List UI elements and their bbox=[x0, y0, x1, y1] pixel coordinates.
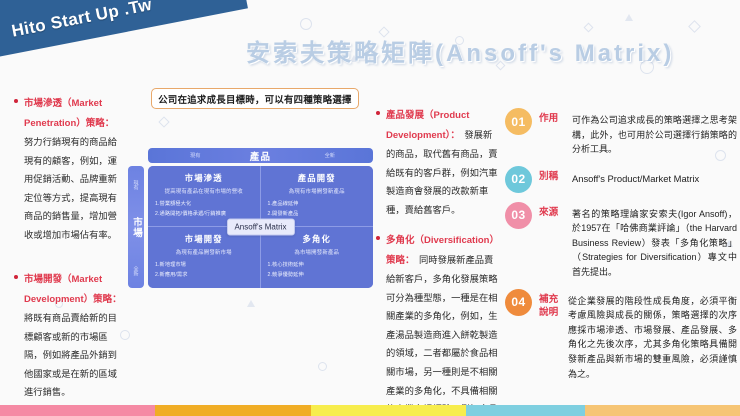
numbered-item-02-value: Ansoff's Product/Market Matrix bbox=[572, 166, 737, 186]
slide-canvas: Hito Start Up .Tw 安索夫策略矩陣(Ansoff's Matri… bbox=[0, 0, 740, 416]
middle-bullet-0-heading: 產品發展（Product Development）： bbox=[386, 110, 469, 141]
deco-diamond bbox=[158, 116, 169, 127]
deco-circle bbox=[318, 362, 327, 371]
quadrant-title: 產品開發 bbox=[268, 172, 367, 184]
quadrant-subtitle: 提高現有產品在現有市場的營收 bbox=[155, 187, 253, 195]
quadrant-diversification[interactable]: 多角化 為市場開發新產品 1.核心技術延伸 2.競爭優勢延伸 bbox=[261, 227, 374, 288]
middle-bullet-0: 產品發展（Product Development）： 發展新的商品，取代舊有商品… bbox=[376, 105, 498, 218]
numbered-item-04-key: 補充說明 bbox=[539, 289, 565, 320]
numbered-item-01: 01 作用 可作為公司追求成長的策略選擇之思考架構，此外，也可用於公司選擇行銷策… bbox=[505, 108, 737, 157]
left-bullet-1-heading: 市場開發（Market Development）策略： bbox=[24, 274, 122, 305]
quadrant-item: 2.新應用/需求 bbox=[155, 270, 253, 280]
deco-triangle bbox=[625, 14, 633, 21]
deco-triangle bbox=[247, 300, 255, 307]
number-badge-02: 02 bbox=[505, 166, 532, 193]
market-axis-title: 市場 bbox=[129, 217, 143, 238]
bullet-dot-icon bbox=[14, 275, 18, 279]
product-axis-header: 現有 產品 全新 bbox=[148, 148, 373, 163]
middle-bullet-0-body: 發展新的商品，取代舊有商品，賣給既有的客戶群，例如汽車製造商會發展的改款新車種，… bbox=[386, 130, 498, 215]
left-bullet-0-body: 努力行銷現有的商品給現有的顧客，例如，運用促銷活動、品牌重新定位等方式，提高現有… bbox=[24, 137, 117, 240]
left-bullet-0-heading: 市場滲透（Market Penetration）策略： bbox=[24, 98, 114, 129]
deco-diamond bbox=[584, 23, 594, 33]
left-column: 市場滲透（Market Penetration）策略： 努力行銷現有的商品給現有… bbox=[14, 93, 122, 244]
strip-segment-5 bbox=[585, 405, 740, 416]
numbered-item-01-value: 可作為公司追求成長的策略選擇之思考架構，此外，也可用於公司選擇行銷策略的分析工具… bbox=[572, 108, 737, 157]
numbered-item-02: 02 別稱 Ansoff's Product/Market Matrix bbox=[505, 166, 737, 193]
quadrant-market-development[interactable]: 市場開發 為現有產品開發新市場 1.新地理市場 2.新應用/需求 bbox=[148, 227, 261, 288]
quadrant-item: 1.產品線延伸 bbox=[268, 199, 367, 209]
quadrant-item: 2.競爭優勢延伸 bbox=[268, 270, 367, 280]
number-badge-01: 01 bbox=[505, 108, 532, 135]
numbered-item-03-key: 來源 bbox=[539, 202, 569, 220]
strip-segment-2 bbox=[155, 405, 310, 416]
left-bullet-1-body: 將既有商品賣給新的目標顧客或新的市場區隔，例如將產品外銷到他國家或是在新的區域進… bbox=[24, 313, 117, 397]
product-axis-right-label: 全新 bbox=[325, 152, 335, 159]
middle-column-2: 多角化（Diversification）策略： 同時發展新產品賣給新客戶，多角化… bbox=[376, 230, 498, 416]
bottom-color-strip bbox=[0, 405, 740, 416]
strip-segment-3 bbox=[311, 405, 466, 416]
middle-bullet-1: 多角化（Diversification）策略： 同時發展新產品賣給新客戶，多角化… bbox=[376, 230, 498, 416]
matrix-grid: 市場滲透 提高現有產品在現有市場的營收 1.營業額極大化 2.通路開拓/價格承遞… bbox=[148, 166, 373, 288]
market-axis-sidebar: 現有 市場 全新 bbox=[128, 166, 144, 288]
deco-circle bbox=[300, 18, 312, 30]
strip-segment-4 bbox=[466, 405, 584, 416]
strip-segment-1 bbox=[0, 405, 155, 416]
quadrant-subtitle: 為現有市場開發新產品 bbox=[268, 187, 367, 195]
number-badge-04: 04 bbox=[505, 289, 532, 316]
product-axis-title: 產品 bbox=[148, 149, 373, 163]
right-column: 01 作用 可作為公司追求成長的策略選擇之思考架構，此外，也可用於公司選擇行銷策… bbox=[505, 108, 737, 390]
quadrant-title: 市場滲透 bbox=[155, 172, 253, 184]
bullet-dot-icon bbox=[376, 111, 380, 115]
bullet-dot-icon bbox=[376, 236, 380, 240]
callout-banner: 公司在追求成長目標時，可以有四種策略選擇 bbox=[151, 88, 359, 109]
ansoff-matrix: 現有 產品 全新 現有 市場 全新 市場滲透 提高現有產品在現有市場的營收 1.… bbox=[128, 148, 373, 290]
matrix-center-badge: Ansoff's Matrix bbox=[226, 219, 294, 236]
numbered-item-03-value: 著名的策略理論家安索夫(Igor Ansoff)，於1957在「哈佛商業評論」（… bbox=[572, 202, 737, 280]
quadrant-subtitle: 為現有產品開發新市場 bbox=[155, 248, 253, 256]
market-axis-bottom-label: 全新 bbox=[133, 266, 140, 276]
middle-bullet-1-body: 同時發展新產品賣給新客戶，多角化發展策略可分為種型態，一種是在相關產業的多角化，… bbox=[386, 255, 498, 416]
market-axis-top-label: 現有 bbox=[133, 180, 140, 190]
numbered-item-01-key: 作用 bbox=[539, 108, 569, 126]
quadrant-subtitle: 為市場開發新產品 bbox=[268, 248, 367, 256]
number-badge-03: 03 bbox=[505, 202, 532, 229]
middle-column: 產品發展（Product Development）： 發展新的商品，取代舊有商品… bbox=[376, 105, 498, 218]
numbered-item-02-key: 別稱 bbox=[539, 166, 569, 184]
numbered-item-04-value: 從企業發展的階段性成長角度，必須平衡考慮風險與成長的關係，策略選擇的次序應採市場… bbox=[568, 289, 737, 381]
quadrant-item: 1.新地理市場 bbox=[155, 260, 253, 270]
quadrant-item: 1.核心技術延伸 bbox=[268, 260, 367, 270]
left-bullet-0: 市場滲透（Market Penetration）策略： 努力行銷現有的商品給現有… bbox=[14, 93, 122, 244]
page-title: 安索夫策略矩陣(Ansoff's Matrix) bbox=[246, 33, 674, 68]
numbered-item-03: 03 來源 著名的策略理論家安索夫(Igor Ansoff)，於1957在「哈佛… bbox=[505, 202, 737, 280]
left-column-2: 市場開發（Market Development）策略： 將既有商品賣給新的目標顧… bbox=[14, 269, 122, 401]
deco-diamond bbox=[688, 20, 701, 33]
left-bullet-1: 市場開發（Market Development）策略： 將既有商品賣給新的目標顧… bbox=[14, 269, 122, 401]
numbered-item-04: 04 補充說明 從企業發展的階段性成長角度，必須平衡考慮風險與成長的關係，策略選… bbox=[505, 289, 737, 381]
quadrant-item: 1.營業額極大化 bbox=[155, 199, 253, 209]
bullet-dot-icon bbox=[14, 99, 18, 103]
